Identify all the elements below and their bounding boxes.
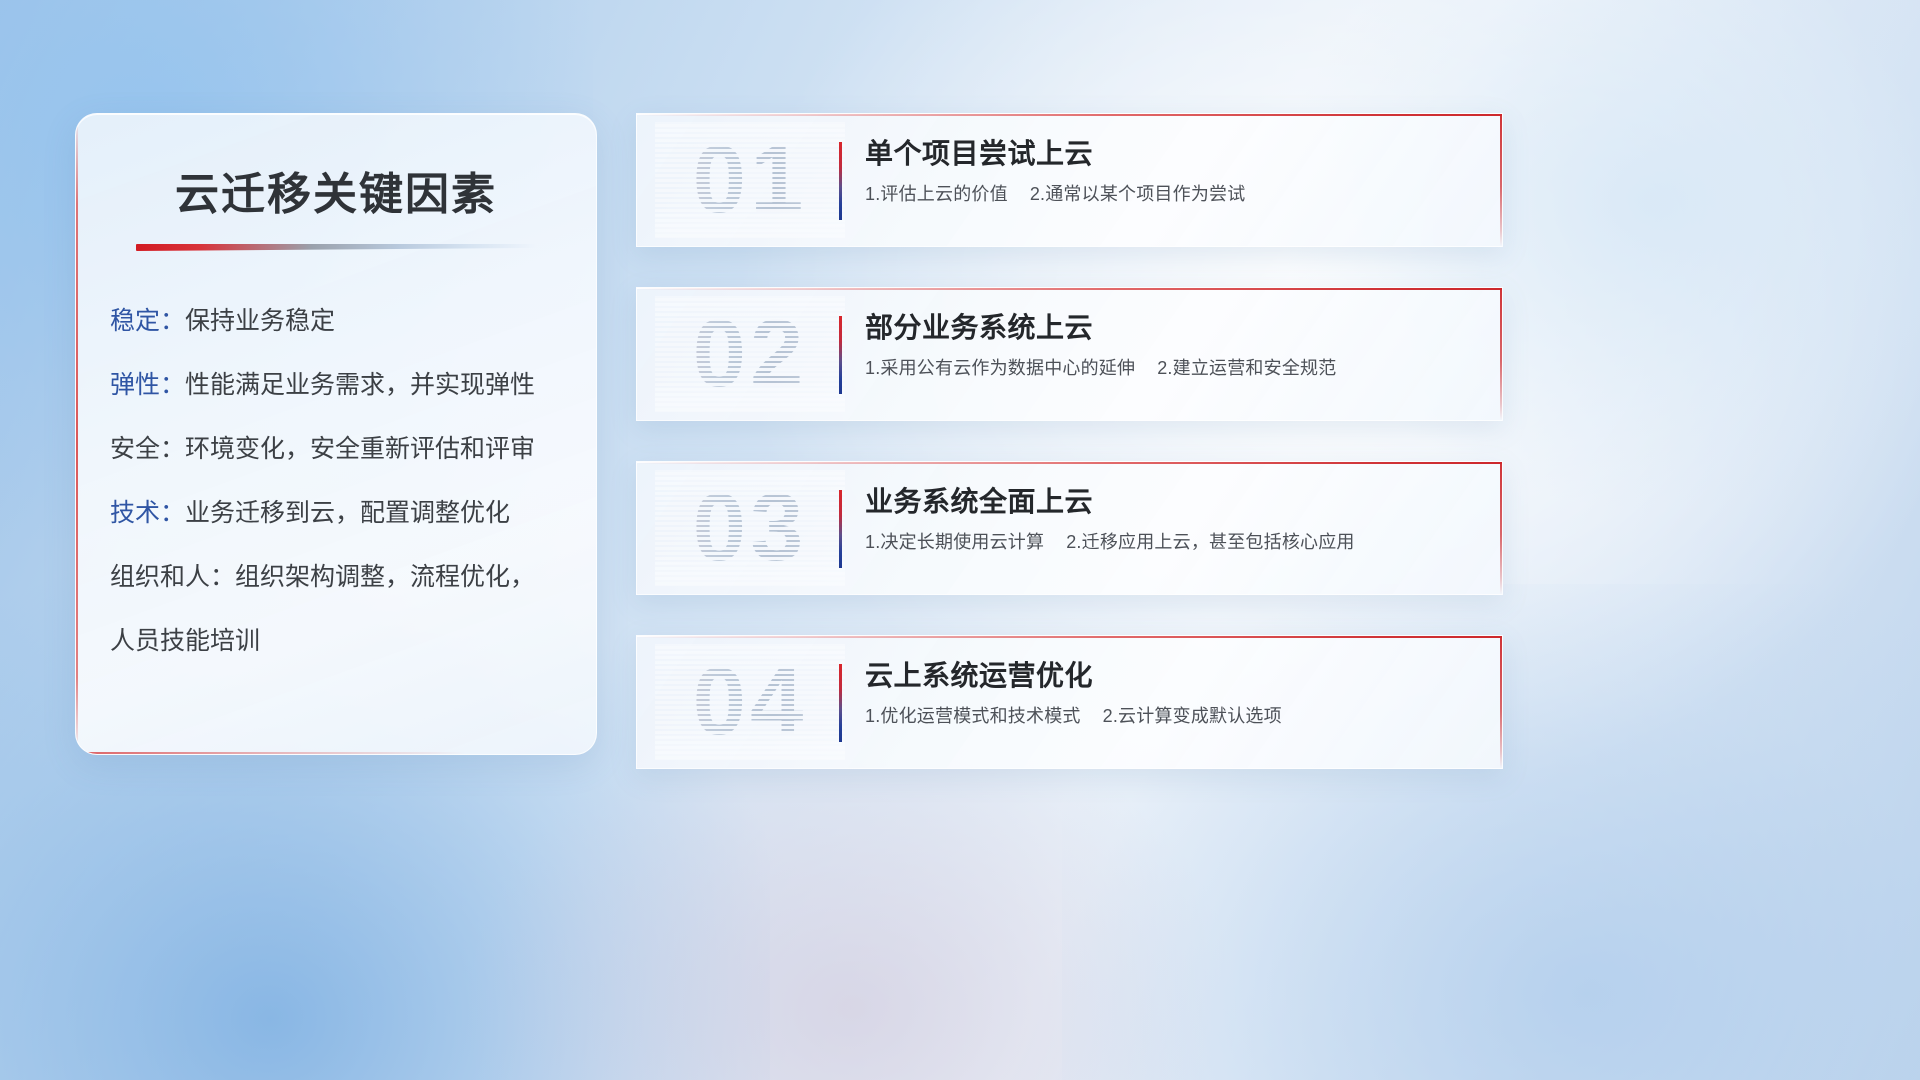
card-subtitle: 1.优化运营模式和技术模式2.云计算变成默认选项	[865, 706, 1476, 728]
stage-cards-list: 01 单个项目尝试上云 1.评估上云的价值2.通常以某个项目作为尝试 02	[636, 113, 1501, 769]
page-title: 云迁移关键因素	[76, 158, 596, 222]
card-number-watermark: 03	[655, 470, 845, 586]
card-divider-bar	[839, 316, 842, 394]
card-subtitle: 1.采用公有云作为数据中心的延伸2.建立运营和安全规范	[865, 358, 1476, 380]
card-top-accent	[637, 288, 1502, 290]
panel-red-edge-accent	[76, 114, 78, 754]
list-item: 人员技能培训	[110, 629, 566, 654]
slide-canvas: 云迁移关键因素 稳定：保持业务稳定 弹性：性能满足业务需求，并实现弹性 安全：环…	[0, 0, 1920, 1080]
card-content: 部分业务系统上云 1.采用公有云作为数据中心的延伸2.建立运营和安全规范	[865, 312, 1476, 380]
stage-card-04[interactable]: 04 云上系统运营优化 1.优化运营模式和技术模式2.云计算变成默认选项	[636, 635, 1503, 769]
list-item: 组织和人：组织架构调整，流程优化，	[110, 565, 566, 590]
card-point-2: 2.迁移应用上云，甚至包括核心应用	[1066, 532, 1354, 552]
card-title: 业务系统全面上云	[865, 486, 1476, 518]
card-right-accent	[1500, 288, 1502, 420]
key-factors-panel: 云迁移关键因素 稳定：保持业务稳定 弹性：性能满足业务需求，并实现弹性 安全：环…	[75, 113, 597, 755]
card-point-2: 2.通常以某个项目作为尝试	[1030, 184, 1246, 204]
list-item: 技术：业务迁移到云，配置调整优化	[110, 501, 566, 526]
card-point-1: 1.决定长期使用云计算	[865, 532, 1044, 552]
list-item-label: 安全：	[110, 435, 185, 463]
stage-card-03[interactable]: 03 业务系统全面上云 1.决定长期使用云计算2.迁移应用上云，甚至包括核心应用	[636, 461, 1503, 595]
card-top-accent	[637, 462, 1502, 464]
card-number-text: 01	[655, 122, 845, 238]
card-right-accent	[1500, 462, 1502, 594]
card-number-watermark: 04	[655, 644, 845, 760]
list-item-label: 稳定：	[110, 307, 185, 335]
card-content: 云上系统运营优化 1.优化运营模式和技术模式2.云计算变成默认选项	[865, 660, 1476, 728]
card-point-1: 1.评估上云的价值	[865, 184, 1008, 204]
key-factors-list: 稳定：保持业务稳定 弹性：性能满足业务需求，并实现弹性 安全：环境变化，安全重新…	[76, 309, 596, 654]
list-item-text: 业务迁移到云，配置调整优化	[185, 499, 510, 527]
card-top-accent	[637, 636, 1502, 638]
card-top-accent	[637, 114, 1502, 116]
card-point-1: 1.优化运营模式和技术模式	[865, 706, 1081, 726]
list-item-label: 技术：	[110, 499, 185, 527]
card-divider-bar	[839, 142, 842, 220]
list-item-text: 环境变化，安全重新评估和评审	[185, 435, 535, 463]
list-item-label: 组织和人：	[110, 563, 235, 591]
card-subtitle: 1.决定长期使用云计算2.迁移应用上云，甚至包括核心应用	[865, 532, 1476, 554]
card-number-text: 03	[655, 470, 845, 586]
list-item-text: 组织架构调整，流程优化，	[235, 563, 535, 591]
card-number-watermark: 01	[655, 122, 845, 238]
card-point-2: 2.云计算变成默认选项	[1103, 706, 1282, 726]
card-divider-bar	[839, 490, 842, 568]
card-point-2: 2.建立运营和安全规范	[1157, 358, 1336, 378]
card-title: 部分业务系统上云	[865, 312, 1476, 344]
card-content: 业务系统全面上云 1.决定长期使用云计算2.迁移应用上云，甚至包括核心应用	[865, 486, 1476, 554]
card-title: 单个项目尝试上云	[865, 138, 1476, 170]
list-item-text: 人员技能培训	[110, 627, 260, 655]
stage-card-01[interactable]: 01 单个项目尝试上云 1.评估上云的价值2.通常以某个项目作为尝试	[636, 113, 1503, 247]
list-item: 弹性：性能满足业务需求，并实现弹性	[110, 373, 566, 398]
card-content: 单个项目尝试上云 1.评估上云的价值2.通常以某个项目作为尝试	[865, 138, 1476, 206]
card-number-text: 04	[655, 644, 845, 760]
card-divider-bar	[839, 664, 842, 742]
title-underline-rule	[136, 244, 536, 251]
list-item-text: 性能满足业务需求，并实现弹性	[185, 371, 535, 399]
card-subtitle: 1.评估上云的价值2.通常以某个项目作为尝试	[865, 184, 1476, 206]
panel-bottom-accent	[76, 752, 596, 754]
card-title: 云上系统运营优化	[865, 660, 1476, 692]
list-item-text: 保持业务稳定	[185, 307, 335, 335]
card-right-accent	[1500, 114, 1502, 246]
card-point-1: 1.采用公有云作为数据中心的延伸	[865, 358, 1135, 378]
list-item: 稳定：保持业务稳定	[110, 309, 566, 334]
stage-card-02[interactable]: 02 部分业务系统上云 1.采用公有云作为数据中心的延伸2.建立运营和安全规范	[636, 287, 1503, 421]
list-item-label: 弹性：	[110, 371, 185, 399]
card-right-accent	[1500, 636, 1502, 768]
card-number-watermark: 02	[655, 296, 845, 412]
list-item: 安全：环境变化，安全重新评估和评审	[110, 437, 566, 462]
card-number-text: 02	[655, 296, 845, 412]
